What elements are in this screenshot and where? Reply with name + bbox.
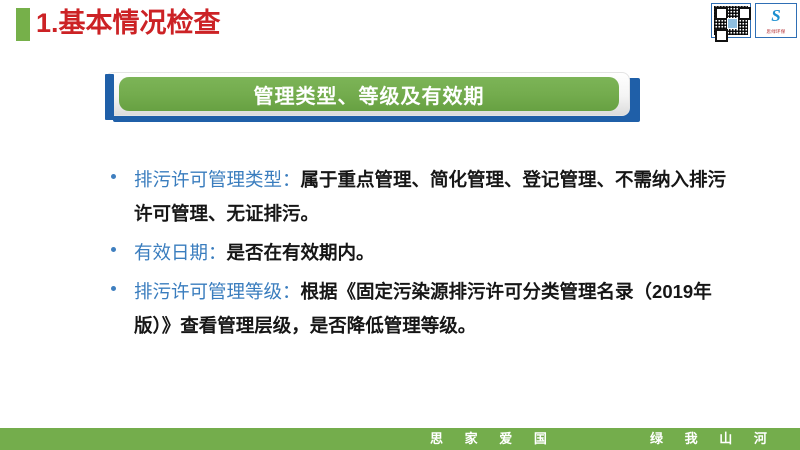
banner-title-text: 管理类型、等级及有效期: [254, 80, 485, 109]
bullet-dot-icon: [111, 174, 116, 179]
list-item-label: 排污许可管理类型: [134, 169, 282, 190]
company-logo-icon: S: [756, 6, 796, 25]
list-item: 排污许可管理类型：属于重点管理、简化管理、登记管理、不需纳入排污许可管理、无证排…: [108, 163, 728, 231]
company-logo-caption: 思绿环保: [756, 29, 796, 35]
body-content: 排污许可管理类型：属于重点管理、简化管理、登记管理、不需纳入排污许可管理、无证排…: [108, 163, 728, 348]
list-item-separator: ：: [208, 242, 227, 263]
company-logo-badge[interactable]: S 思绿环保: [755, 3, 797, 38]
slide-header: 1.基本情况检查 S 思绿环保: [0, 0, 800, 48]
page-title: 1.基本情况检查: [36, 5, 221, 41]
qr-code-icon: [714, 6, 748, 35]
list-item-text: 排污许可管理等级：根据《固定污染源排污许可分类管理名录（2019年版）》查看管理…: [134, 275, 728, 343]
list-item: 有效日期：是否在有效期内。: [108, 236, 728, 270]
list-item-label: 有效日期: [134, 242, 208, 263]
footer-slogan-left: 思 家 爱 国: [430, 428, 556, 450]
list-item: 排污许可管理等级：根据《固定污染源排污许可分类管理名录（2019年版）》查看管理…: [108, 275, 728, 343]
banner-left-edge: [105, 74, 114, 120]
list-item-label: 排污许可管理等级: [134, 281, 282, 302]
list-item-text: 排污许可管理类型：属于重点管理、简化管理、登记管理、不需纳入排污许可管理、无证排…: [134, 163, 728, 231]
slide-footer: 思 家 爱 国 绿 我 山 河: [0, 428, 800, 450]
qr-code-badge[interactable]: [711, 3, 751, 38]
list-item-body: 是否在有效期内。: [227, 242, 375, 263]
list-item-separator: ：: [282, 281, 301, 302]
section-banner: 管理类型、等级及有效期: [105, 72, 640, 122]
list-item-separator: ：: [282, 169, 301, 190]
bullet-dot-icon: [111, 286, 116, 291]
title-accent-bar: [16, 8, 30, 41]
banner-green-plate: 管理类型、等级及有效期: [119, 77, 619, 111]
footer-slogan-right: 绿 我 山 河: [650, 428, 776, 450]
badge-group: S 思绿环保: [711, 3, 797, 38]
list-item-text: 有效日期：是否在有效期内。: [134, 236, 728, 270]
bullet-dot-icon: [111, 247, 116, 252]
